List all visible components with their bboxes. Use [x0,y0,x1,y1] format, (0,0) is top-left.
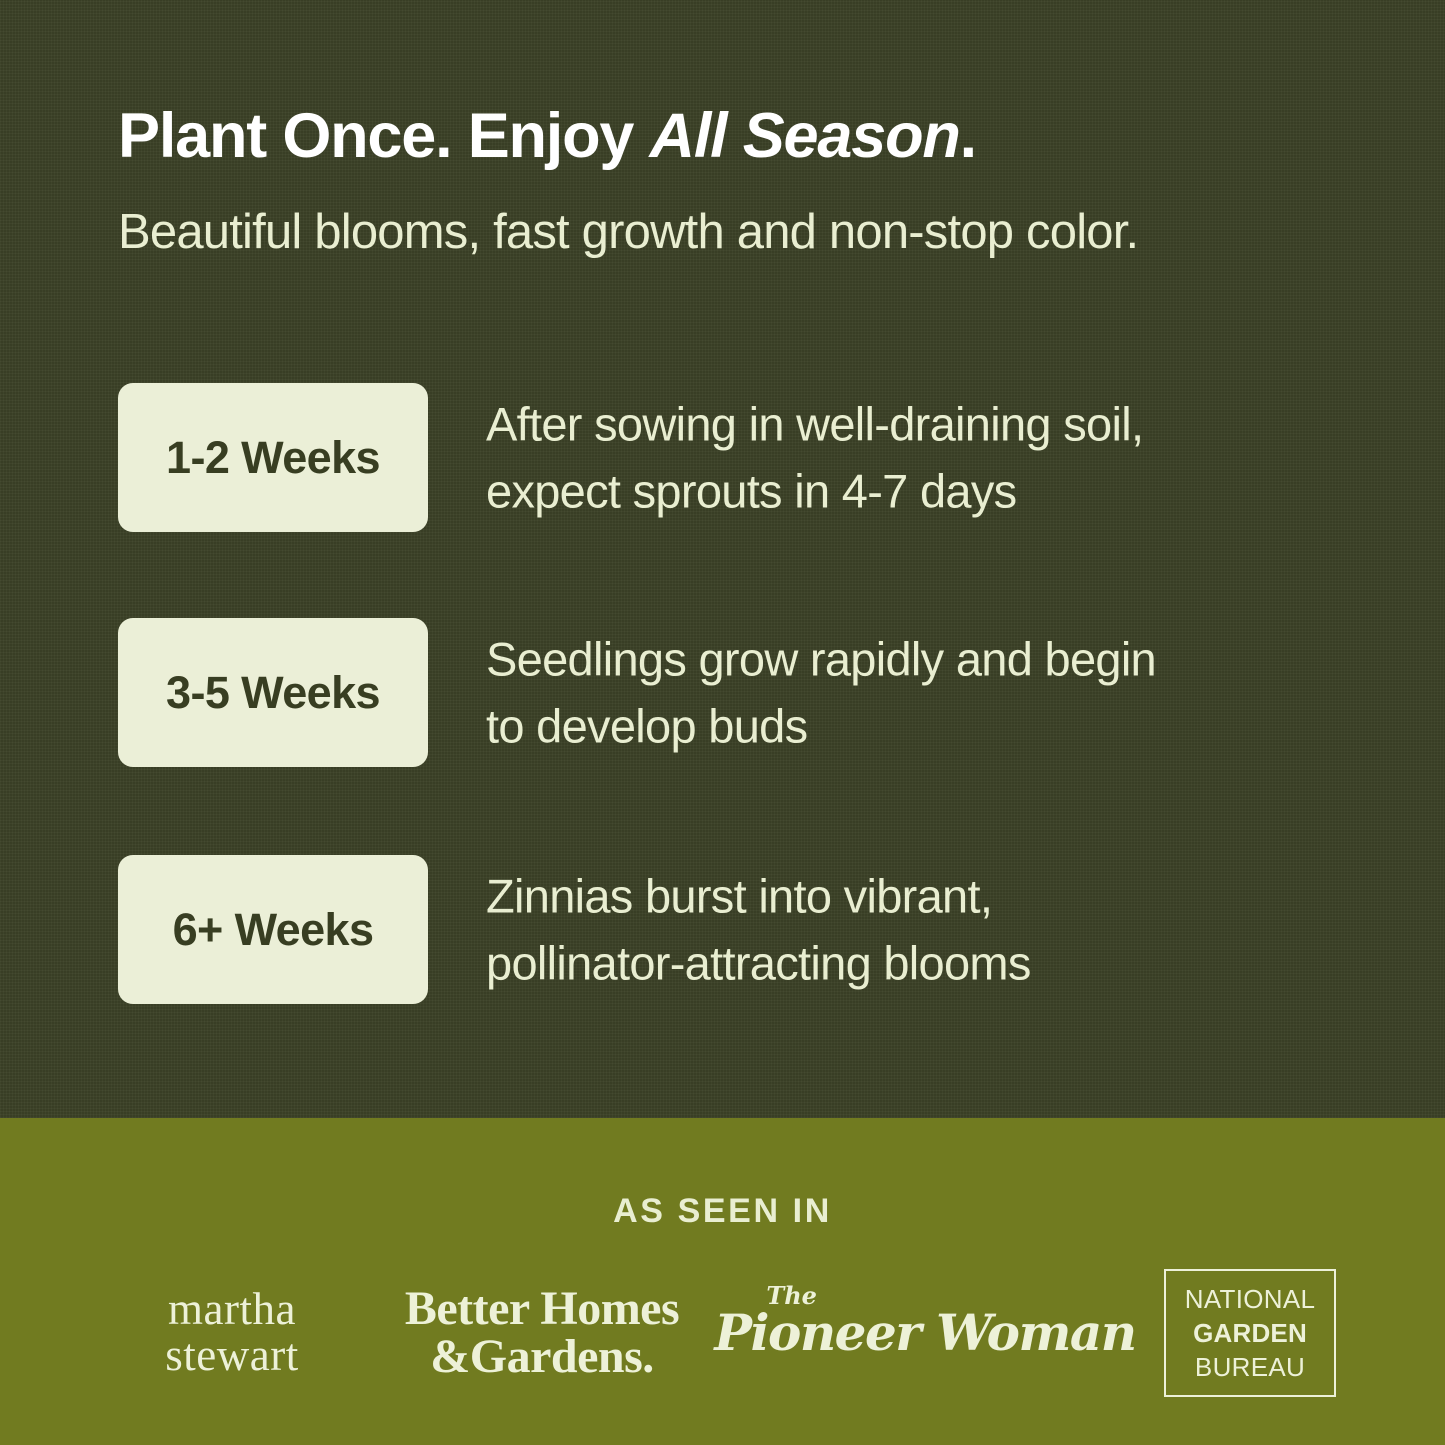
the-pioneer-woman-logo-the: The [766,1284,817,1308]
timeline-description-line: After sowing in well-draining soil, [486,391,1366,458]
timeline-badge-label: 1-2 Weeks [166,435,380,480]
headline-lead: Plant Once. Enjoy [118,101,650,171]
better-homes-and-gardens-logo-line: &Gardens. [430,1333,654,1381]
national-garden-bureau-box: NATIONAL GARDEN BUREAU [1164,1269,1336,1397]
promo-infographic: Plant Once. Enjoy All Season. Beautiful … [0,0,1445,1445]
the-pioneer-woman-logo-main: Pioneer Woman The [714,1308,1135,1358]
national-garden-bureau-logo: NATIONAL GARDEN BUREAU [1150,1258,1350,1408]
better-homes-and-gardens-logo-line: Better Homes [405,1285,679,1333]
timeline-description-line: pollinator-attracting blooms [486,930,1366,997]
timeline-badge-label: 3-5 Weeks [166,670,380,715]
timeline-badge: 1-2 Weeks [118,383,428,532]
the-pioneer-woman-logo: Pioneer Woman The [760,1258,1090,1408]
timeline-description: Seedlings grow rapidly and begin to deve… [486,626,1366,759]
better-homes-and-gardens-logo: Better Homes &Gardens. [382,1258,702,1408]
timeline-badge: 6+ Weeks [118,855,428,1004]
martha-stewart-logo-line: stewart [165,1333,298,1379]
press-logo-strip: martha stewart Better Homes &Gardens. Pi… [0,1258,1445,1408]
timeline-description-line: Zinnias burst into vibrant, [486,863,1366,930]
page-title: Plant Once. Enjoy All Season. [118,103,1358,169]
timeline-badge-label: 6+ Weeks [173,907,374,952]
headline-tail: . [960,101,976,171]
timeline-description: After sowing in well-draining soil, expe… [486,391,1366,524]
timeline-row: 3-5 Weeks Seedlings grow rapidly and beg… [118,618,1358,768]
as-seen-in-band: AS SEEN IN martha stewart Better Homes &… [0,1118,1445,1445]
timeline-badge: 3-5 Weeks [118,618,428,767]
martha-stewart-logo: martha stewart [92,1258,372,1408]
timeline-row: 6+ Weeks Zinnias burst into vibrant, pol… [118,855,1358,1005]
as-seen-in-title: AS SEEN IN [0,1192,1445,1231]
martha-stewart-logo-line: martha [168,1287,296,1333]
timeline-row: 1-2 Weeks After sowing in well-draining … [118,383,1358,533]
timeline-description-line: to develop buds [486,693,1366,760]
timeline-description: Zinnias burst into vibrant, pollinator-a… [486,863,1366,996]
page-subtitle: Beautiful blooms, fast growth and non-st… [118,206,1378,260]
national-garden-bureau-line: NATIONAL [1185,1282,1316,1316]
timeline-description-line: expect sprouts in 4-7 days [486,458,1366,525]
national-garden-bureau-line: BUREAU [1195,1350,1305,1384]
headline-emphasis: All Season [650,101,960,171]
timeline-description-line: Seedlings grow rapidly and begin [486,626,1366,693]
national-garden-bureau-line: GARDEN [1193,1316,1307,1350]
